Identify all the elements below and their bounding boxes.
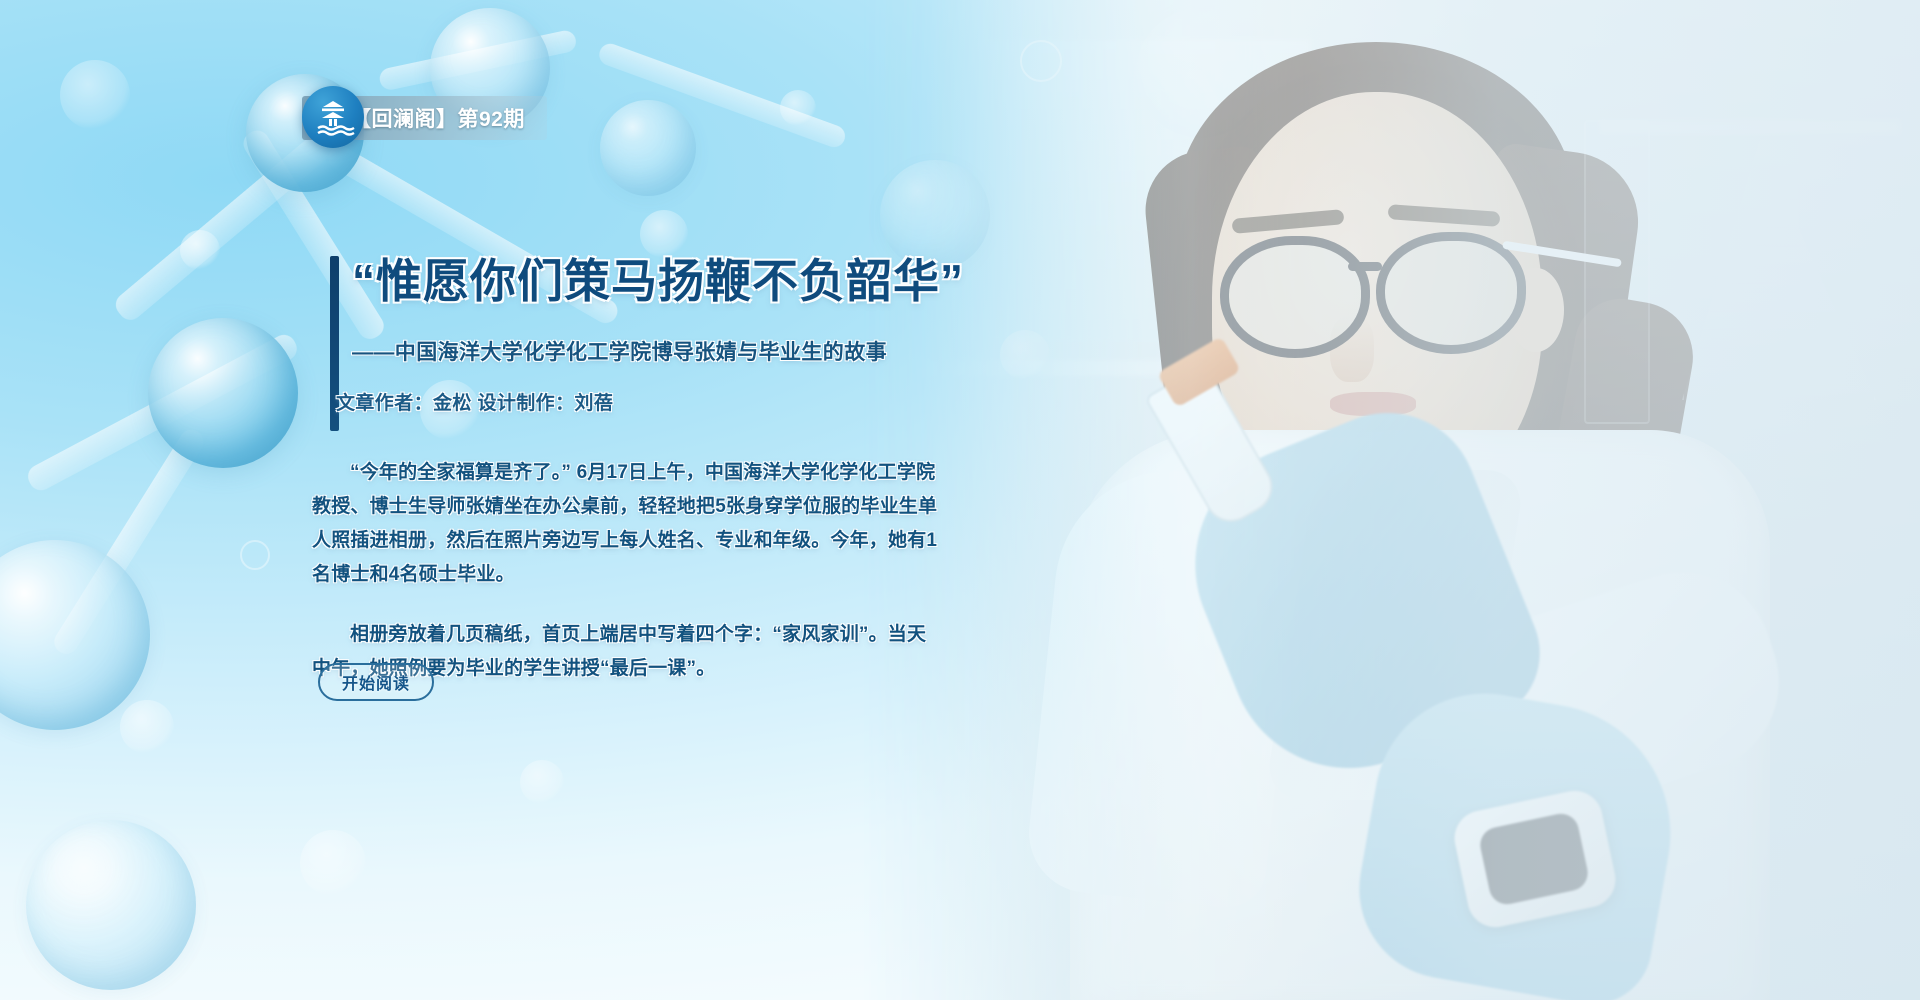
issue-badge-label: 【回澜阁】第92期 bbox=[350, 103, 525, 133]
byline: 文章作者：金松 设计制作：刘蓓 bbox=[336, 388, 996, 415]
page-subtitle: ——中国海洋大学化学化工学院博导张婧与毕业生的故事 bbox=[352, 337, 1012, 369]
page-title: “惟愿你们策马扬鞭不负韶华” bbox=[352, 254, 992, 308]
paragraph: “今年的全家福算是齐了。” 6月17日上午，中国海洋大学化学化工学院教授、博士生… bbox=[312, 456, 942, 592]
start-reading-button[interactable]: 开始阅读 bbox=[318, 663, 434, 701]
poster-stage: 【回澜阁】第92期 “惟愿你们策马扬鞭不负韶华” ——中国海洋大学化学化工学院博… bbox=[0, 0, 1920, 1000]
content-layer: 【回澜阁】第92期 “惟愿你们策马扬鞭不负韶华” ——中国海洋大学化学化工学院博… bbox=[0, 0, 1100, 1000]
pagoda-wave-logo-icon[interactable] bbox=[302, 86, 364, 148]
